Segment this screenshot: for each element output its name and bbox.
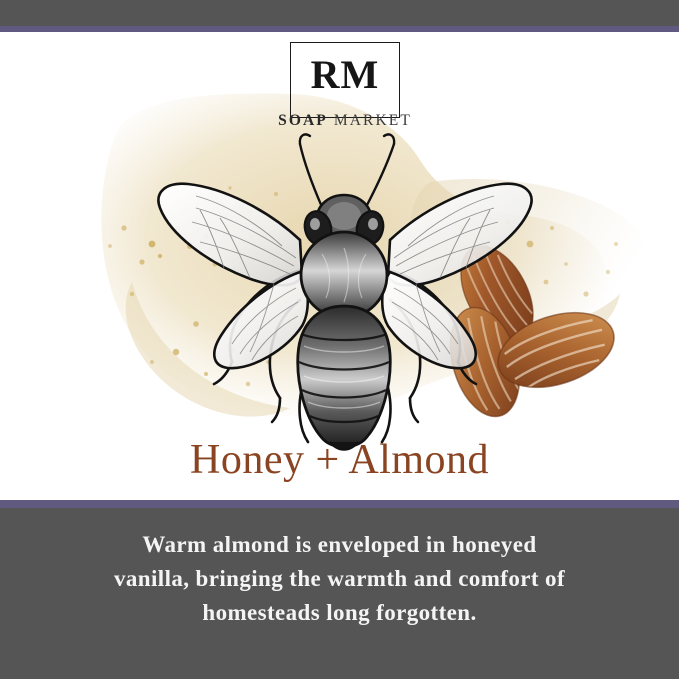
brand-logo: RM SOAP MARKET [0,36,679,128]
top-gray-band [0,0,679,26]
bottom-purple-divider [0,500,679,508]
product-label: RM SOAP MARKET Honey + Almond Warm almon… [0,0,679,679]
product-title: Honey + Almond [0,434,679,486]
logo-subtitle-soap: SOAP [278,112,328,129]
logo-subtitle-market: MARKET [334,112,412,129]
product-description: Warm almond is enveloped in honeyed vani… [72,528,607,630]
description-line-1: Warm almond is enveloped in honeyed [72,528,607,562]
logo-monogram: RM [290,52,400,98]
logo-subtitle: SOAP MARKET [190,112,500,130]
description-line-2: vanilla, bringing the warmth and comfort… [72,562,607,596]
description-line-3: homesteads long forgotten. [72,596,607,630]
bee-abdomen [298,306,391,450]
